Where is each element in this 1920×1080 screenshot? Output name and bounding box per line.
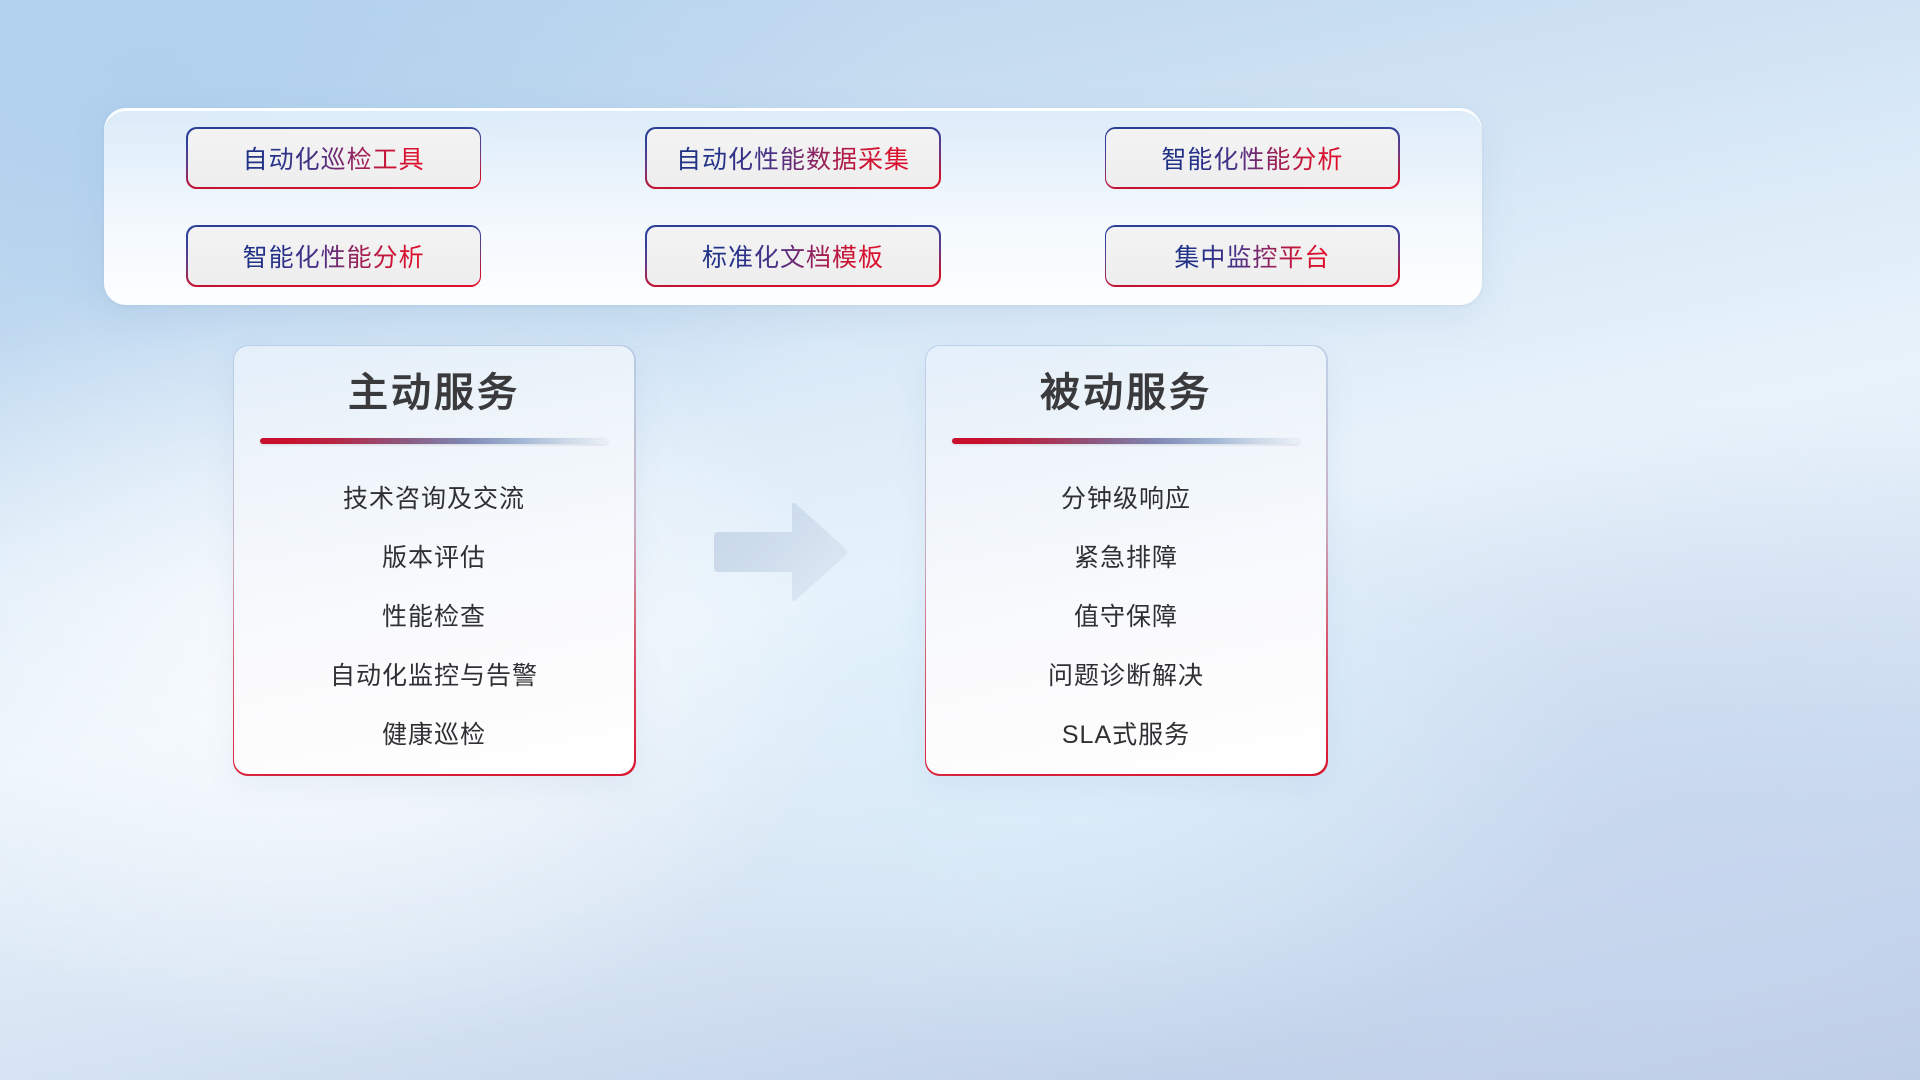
capability-tag-automated-performance-data-collection[interactable]: 自动化性能数据采集	[647, 129, 939, 187]
list-item: 紧急排障	[1074, 529, 1178, 588]
slide-canvas: 自动化巡检工具 自动化性能数据采集 智能化性能分析 智能化性能分析 标准化文档模…	[0, 0, 1920, 1080]
service-card-active-title: 主动服务	[348, 370, 520, 416]
service-card-passive-title: 被动服务	[1040, 370, 1212, 416]
arrow-right-icon	[714, 500, 850, 604]
service-card-passive-list: 分钟级响应 紧急排障 值守保障 问题诊断解决 SLA式服务	[926, 470, 1326, 765]
list-item: 健康巡检	[382, 706, 486, 765]
service-card-active[interactable]: 主动服务 技术咨询及交流 版本评估 性能检查 自动化监控与告警 健康巡检	[234, 346, 634, 774]
service-card-passive[interactable]: 被动服务 分钟级响应 紧急排障 值守保障 问题诊断解决 SLA式服务	[926, 346, 1326, 774]
capability-panel: 自动化巡检工具 自动化性能数据采集 智能化性能分析 智能化性能分析 标准化文档模…	[104, 108, 1482, 305]
capability-tag-intelligent-performance-analysis-bottom[interactable]: 智能化性能分析	[188, 227, 480, 285]
service-card-active-list: 技术咨询及交流 版本评估 性能检查 自动化监控与告警 健康巡检	[234, 470, 634, 765]
capability-tag-label: 自动化巡检工具	[243, 140, 425, 176]
list-item: 自动化监控与告警	[330, 647, 538, 706]
capability-tag-standardized-doc-template[interactable]: 标准化文档模板	[647, 227, 939, 285]
list-item: 版本评估	[382, 529, 486, 588]
service-card-active-divider	[260, 438, 608, 444]
service-card-passive-divider	[952, 438, 1300, 444]
capability-tag-centralized-monitoring-platform[interactable]: 集中监控平台	[1106, 227, 1398, 285]
list-item: SLA式服务	[1062, 706, 1190, 765]
service-card-passive-body: 被动服务 分钟级响应 紧急排障 值守保障 问题诊断解决 SLA式服务	[926, 346, 1326, 774]
list-item: 分钟级响应	[1061, 470, 1191, 529]
capability-tag-label: 自动化性能数据采集	[676, 140, 910, 176]
list-item: 技术咨询及交流	[343, 470, 525, 529]
list-item: 值守保障	[1074, 588, 1178, 647]
list-item: 性能检查	[382, 588, 486, 647]
capability-tag-label: 智能化性能分析	[243, 238, 425, 274]
capability-tag-label: 集中监控平台	[1174, 238, 1330, 274]
capability-tag-intelligent-performance-analysis-top[interactable]: 智能化性能分析	[1106, 129, 1398, 187]
capability-tag-automated-inspection-tool[interactable]: 自动化巡检工具	[188, 129, 480, 187]
capability-tag-label: 智能化性能分析	[1161, 140, 1343, 176]
list-item: 问题诊断解决	[1048, 647, 1204, 706]
service-card-active-body: 主动服务 技术咨询及交流 版本评估 性能检查 自动化监控与告警 健康巡检	[234, 346, 634, 774]
capability-tag-label: 标准化文档模板	[702, 238, 884, 274]
capability-grid: 自动化巡检工具 自动化性能数据采集 智能化性能分析 智能化性能分析 标准化文档模…	[104, 109, 1482, 305]
